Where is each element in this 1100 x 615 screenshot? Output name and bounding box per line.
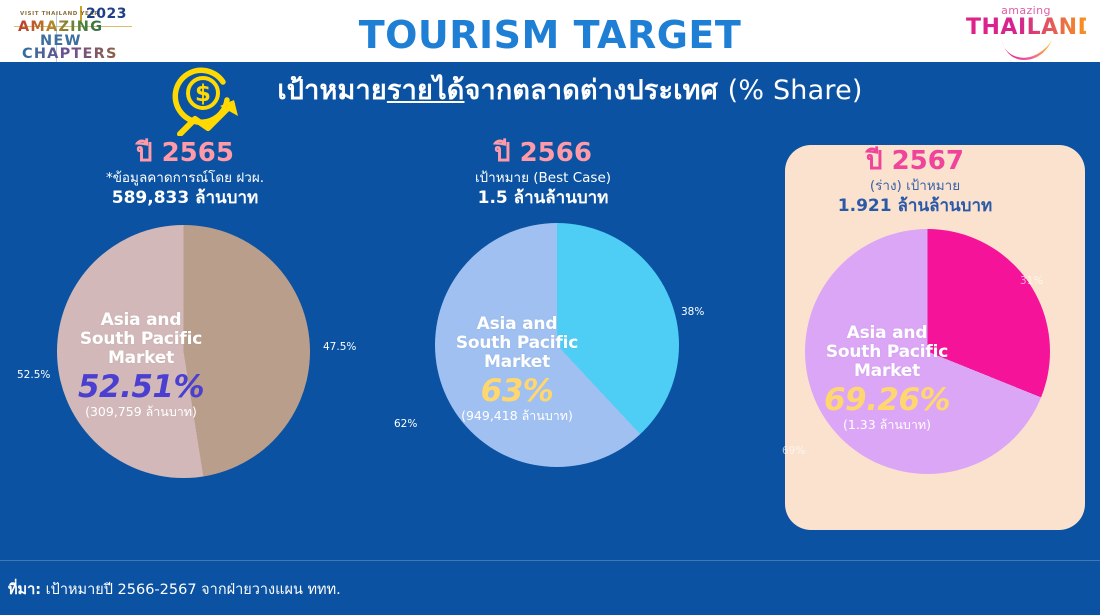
pie-chart-2565: Asia and South Pacific Market 52.51% (30… <box>0 223 370 493</box>
pie-chart-2567: Asia and South Pacific Market 69.26% (1.… <box>730 229 1100 489</box>
footer-divider <box>0 560 1100 561</box>
pie-slices-2566 <box>435 223 679 467</box>
pie-tick-right-2566: 38% <box>681 306 704 318</box>
subtitle-share: (% Share) <box>728 75 863 106</box>
pie-tick-left-2565: 52.5% <box>17 369 50 381</box>
chart-column-2567: ปี 2567 (ร่าง) เป้าหมาย 1.921 ล้านล้านบา… <box>730 140 1100 489</box>
slide-canvas: VISIT THAILAND YEAR 2023 AMAZING NEW CHA… <box>0 0 1100 615</box>
subtitle-prefix: เป้าหมาย <box>277 75 387 106</box>
source-text: เป้าหมายปี 2566-2567 จากฝ่ายวางแผน ททท. <box>46 582 341 598</box>
year-label-2567: ปี 2567 <box>730 148 1100 175</box>
pie-slices-2565 <box>57 225 310 478</box>
year-label-2566: ปี 2566 <box>368 140 718 167</box>
year-note-2567: (ร่าง) เป้าหมาย <box>730 178 1100 195</box>
year-amount-2567: 1.921 ล้านล้านบาท <box>730 196 1100 216</box>
year-label-2565: ปี 2565 <box>0 140 370 167</box>
subtitle-suffix: จากตลาดต่างประเทศ <box>464 75 718 106</box>
thailand-swoosh-icon <box>1000 39 1054 61</box>
pie-tick-left-2566: 62% <box>394 418 417 430</box>
pie-tick-right-2565: 47.5% <box>323 341 356 353</box>
source-label: ที่มา: <box>8 582 41 598</box>
chart-column-2565: ปี 2565 *ข้อมูลคาดการณ์โดย ฝวผ. 589,833 … <box>0 140 370 493</box>
pie-tick-left-2567: 69% <box>782 445 805 457</box>
pie-chart-2566: Asia and South Pacific Market 63% (949,4… <box>368 223 718 483</box>
logo-thailand-text: THAILAND <box>966 17 1086 39</box>
year-amount-2566: 1.5 ล้านล้านบาท <box>368 188 718 208</box>
subtitle-underlined: รายได้ <box>387 75 465 106</box>
page-title: TOURISM TARGET <box>0 13 1100 57</box>
subtitle: เป้าหมายรายได้จากตลาดต่างประเทศ (% Share… <box>0 68 1100 111</box>
header-band: VISIT THAILAND YEAR 2023 AMAZING NEW CHA… <box>0 0 1100 62</box>
source-note: ที่มา: เป้าหมายปี 2566-2567 จากฝ่ายวางแผ… <box>8 578 341 601</box>
pie-tick-right-2567: 31% <box>1020 275 1043 287</box>
pie-slices-2567 <box>805 229 1050 474</box>
chart-column-2566: ปี 2566 เป้าหมาย (Best Case) 1.5 ล้านล้า… <box>368 140 718 483</box>
year-amount-2565: 589,833 ล้านบาท <box>0 188 370 208</box>
amazing-thailand-logo: amazing THAILAND <box>966 5 1086 59</box>
year-note-2566: เป้าหมาย (Best Case) <box>368 170 718 187</box>
year-note-2565: *ข้อมูลคาดการณ์โดย ฝวผ. <box>0 170 370 187</box>
